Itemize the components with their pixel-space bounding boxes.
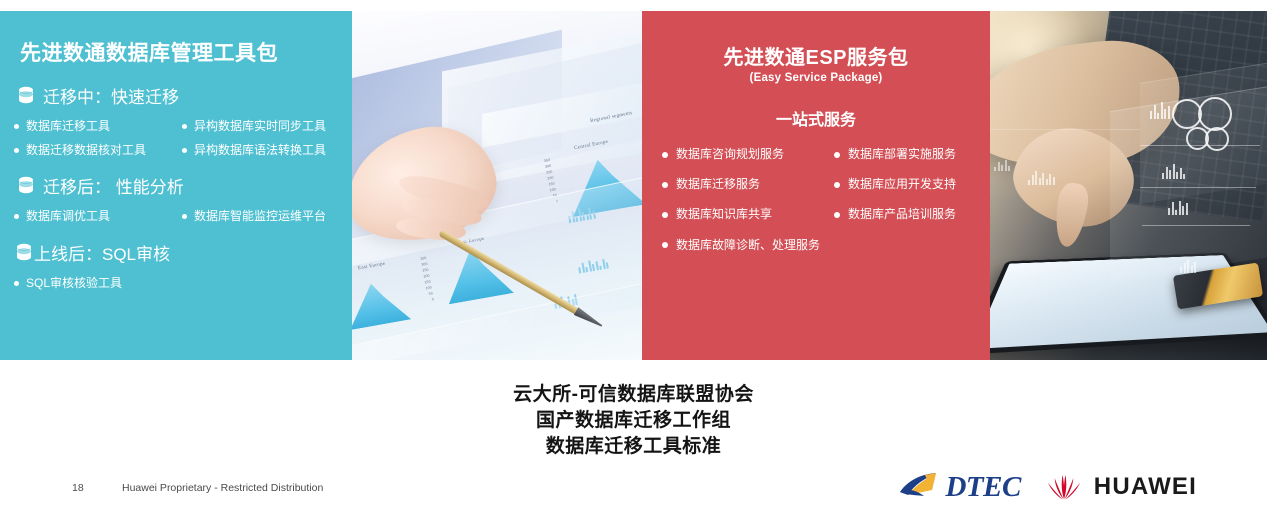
dtec-logo: DTEC: [898, 470, 1020, 504]
bullet-dot-icon: [14, 148, 19, 153]
dtec-arrow-icon: [898, 470, 944, 504]
bullet-dot-icon: [182, 124, 187, 129]
bullet-dot-icon: [662, 182, 668, 188]
slide-caption: 云大所-可信数据库联盟协会 国产数据库迁移工作组 数据库迁移工具标准: [0, 382, 1267, 460]
bullet-dot-icon: [662, 212, 668, 218]
teal-panel-title: 先进数通数据库管理工具包: [20, 37, 342, 67]
holo-bar-chart: [1028, 169, 1055, 185]
list-item: 数据库智能监控运维平台: [182, 210, 342, 223]
list-item-label: 异构数据库语法转换工具: [194, 144, 326, 157]
huawei-logo: HUAWEI: [1043, 472, 1197, 502]
bullet-dot-icon: [14, 281, 19, 286]
holo-line: [1140, 145, 1260, 146]
list-item-label: 数据库智能监控运维平台: [194, 210, 326, 223]
list-item: 数据库迁移服务: [662, 178, 834, 191]
caption-line: 数据库迁移工具标准: [0, 434, 1267, 460]
banner-strip: 先进数通数据库管理工具包 迁移中：快速迁移 数据库迁移工具 异构数据库实时同步工…: [0, 11, 1267, 360]
teal-bullet-grid-after-launch: SQL审核核验工具: [14, 277, 342, 290]
hand-writing-analytics-photo: Regional segments Central Europe West Eu…: [352, 11, 642, 360]
teal-panel: 先进数通数据库管理工具包 迁移中：快速迁移 数据库迁移工具 异构数据库实时同步工…: [0, 11, 352, 360]
list-item: 数据库应用开发支持: [834, 178, 974, 191]
list-item-label: 数据库部署实施服务: [848, 148, 956, 161]
red-panel-tagline: 一站式服务: [658, 106, 974, 130]
bullet-dot-icon: [182, 148, 187, 153]
bullet-dot-icon: [834, 182, 840, 188]
list-item: 数据库迁移工具: [14, 120, 182, 133]
teal-section-heading-migrating: 迁移中：快速迁移: [18, 83, 342, 108]
slide-footer: 18 Huawei Proprietary - Restricted Distr…: [0, 478, 1267, 510]
holo-ring-icon: [1205, 127, 1229, 151]
dtec-logo-text: DTEC: [945, 473, 1020, 502]
list-item: 数据库调优工具: [14, 210, 182, 223]
bullet-dot-icon: [834, 152, 840, 158]
holo-bar-chart: [1150, 99, 1170, 119]
holo-bar-chart: [1168, 199, 1188, 215]
teal-bullet-grid-after-migration: 数据库调优工具 数据库智能监控运维平台: [14, 210, 342, 223]
bullet-dot-icon: [14, 214, 19, 219]
holo-bar-chart: [1180, 259, 1196, 273]
list-item-label: 数据迁移数据核对工具: [26, 144, 146, 157]
red-panel: 先进数通ESP服务包 (Easy Service Package) 一站式服务 …: [642, 11, 990, 360]
list-item: 数据库咨询规划服务: [662, 148, 834, 161]
holo-line: [1140, 187, 1256, 188]
red-panel-title: 先进数通ESP服务包: [658, 41, 974, 70]
bullet-dot-icon: [14, 124, 19, 129]
list-item: SQL审核核验工具: [14, 277, 342, 290]
list-item: 数据库知识库共享: [662, 208, 834, 221]
footer-logos: DTEC HUAWEI: [898, 470, 1197, 504]
finger-touching-tablet-photo: [990, 11, 1267, 360]
teal-section-heading-label: 迁移中：快速迁移: [43, 83, 179, 108]
list-item-label: 数据库产品培训服务: [848, 208, 956, 221]
bullet-dot-icon: [182, 214, 187, 219]
caption-line: 云大所-可信数据库联盟协会: [0, 382, 1267, 408]
list-item-label: 数据库迁移工具: [26, 120, 110, 133]
holo-line: [990, 129, 1140, 130]
holo-bar-chart: [994, 159, 1010, 171]
red-bullet-grid: 数据库咨询规划服务 数据库部署实施服务 数据库迁移服务 数据库应用开发支持 数据…: [658, 148, 974, 252]
list-item-label: 数据库咨询规划服务: [676, 148, 784, 161]
list-item-label: SQL审核核验工具: [26, 277, 122, 290]
list-item-label: 数据库迁移服务: [676, 178, 760, 191]
caption-line: 国产数据库迁移工作组: [0, 408, 1267, 434]
list-item-label: 数据库故障诊断、处理服务: [676, 239, 820, 252]
database-icon: [18, 176, 34, 195]
list-item: 数据库产品培训服务: [834, 208, 974, 221]
list-item-label: 数据库知识库共享: [676, 208, 772, 221]
list-item-label: 数据库调优工具: [26, 210, 110, 223]
red-panel-subtitle: (Easy Service Package): [658, 72, 974, 84]
holo-line: [1142, 225, 1250, 226]
bullet-dot-icon: [662, 152, 668, 158]
list-item: 数据库故障诊断、处理服务: [662, 239, 974, 252]
teal-section-heading-after-launch: 上线后：SQL审核: [16, 240, 342, 265]
holo-ring-icon: [1198, 97, 1232, 131]
holo-bar-chart: [1162, 163, 1185, 179]
bullet-dot-icon: [662, 242, 668, 248]
huawei-logo-text: HUAWEI: [1094, 475, 1197, 499]
page-number: 18: [72, 482, 84, 494]
copyright-notice: Huawei Proprietary - Restricted Distribu…: [122, 482, 323, 494]
list-item: 数据迁移数据核对工具: [14, 144, 182, 157]
list-item: 异构数据库实时同步工具: [182, 120, 342, 133]
teal-section-heading-label: 上线后：SQL审核: [34, 240, 170, 265]
list-item: 数据库部署实施服务: [834, 148, 974, 161]
teal-section-heading-after-migration: 迁移后： 性能分析: [18, 173, 342, 198]
huawei-flower-icon: [1043, 472, 1085, 502]
bullet-dot-icon: [834, 212, 840, 218]
database-icon: [16, 243, 32, 262]
database-icon: [18, 86, 34, 105]
list-item-label: 数据库应用开发支持: [848, 178, 956, 191]
list-item-label: 异构数据库实时同步工具: [194, 120, 326, 133]
teal-section-heading-label: 迁移后： 性能分析: [43, 173, 184, 198]
teal-bullet-grid-migrating: 数据库迁移工具 异构数据库实时同步工具 数据迁移数据核对工具 异构数据库语法转换…: [14, 120, 342, 157]
list-item: 异构数据库语法转换工具: [182, 144, 342, 157]
